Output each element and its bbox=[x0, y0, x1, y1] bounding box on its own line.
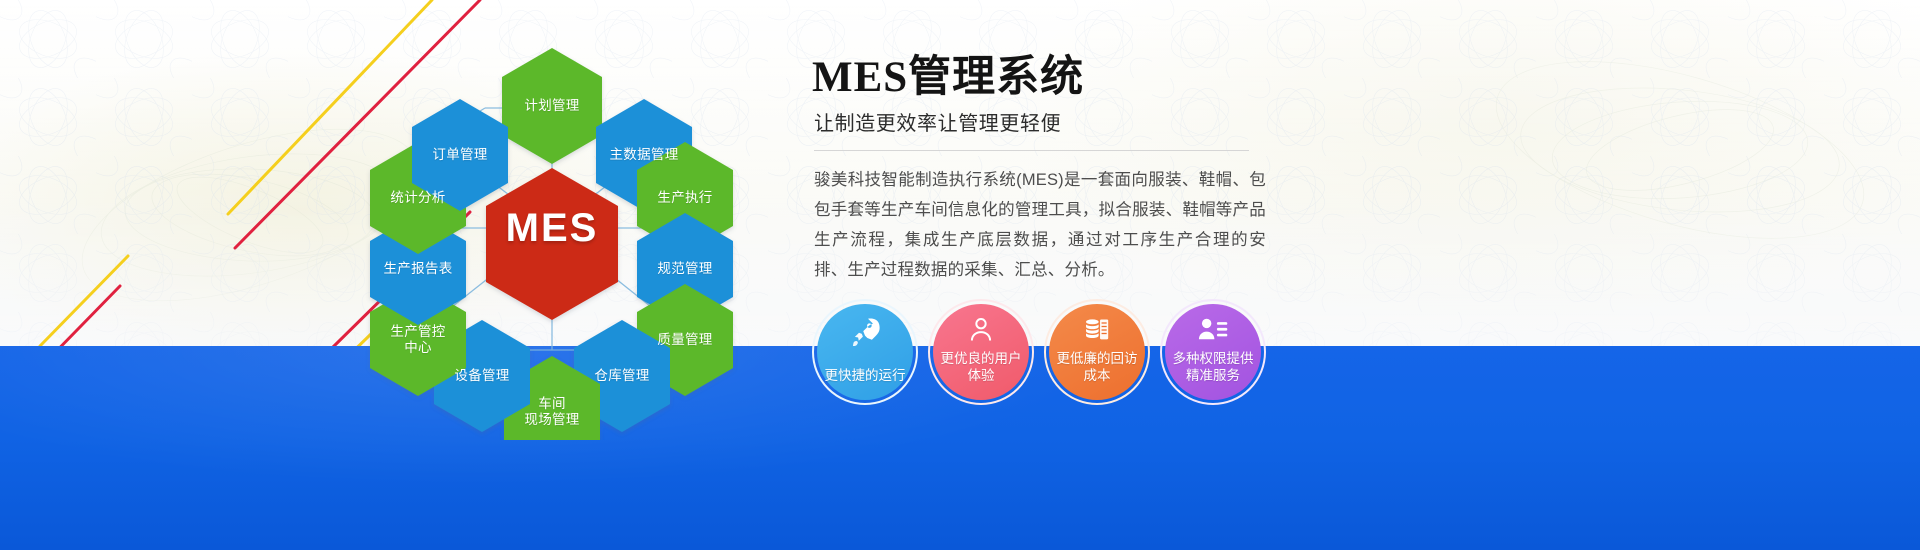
hex-nodes bbox=[370, 48, 733, 440]
feature-badges: 更快捷的运行 更优良的用户 体验 bbox=[817, 304, 1287, 404]
divider bbox=[814, 150, 1249, 151]
permission-icon bbox=[1165, 316, 1261, 344]
hex-diagram-svg bbox=[330, 20, 770, 440]
feature-badge-0[interactable]: 更快捷的运行 bbox=[817, 304, 913, 400]
badge-label: 更快捷的运行 bbox=[817, 367, 913, 400]
badge-label: 多种权限提供 精准服务 bbox=[1165, 350, 1261, 400]
mes-hex-diagram: 计划管理 主数据管理 生产执行 规范管理 质量管理 仓库管理 车间 现场管理 设… bbox=[330, 20, 770, 440]
banner-stage: 计划管理 主数据管理 生产执行 规范管理 质量管理 仓库管理 车间 现场管理 设… bbox=[0, 0, 1920, 550]
page-title: MES管理系统 bbox=[812, 52, 1892, 104]
feature-badge-1[interactable]: 更优良的用户 体验 bbox=[933, 304, 1029, 400]
page-subtitle: 让制造更效率让管理更轻便 bbox=[814, 111, 1892, 137]
feature-badge-3[interactable]: 多种权限提供 精准服务 bbox=[1165, 304, 1261, 400]
banner-text-block: MES管理系统 让制造更效率让管理更轻便 骏美科技智能制造执行系统(MES)是一… bbox=[812, 52, 1892, 482]
badge-label: 更低廉的回访 成本 bbox=[1049, 350, 1145, 400]
money-icon bbox=[1049, 316, 1145, 344]
description-paragraph: 骏美科技智能制造执行系统(MES)是一套面向服装、鞋帽、包包手套等生产车间信息化… bbox=[814, 165, 1266, 285]
user-icon bbox=[933, 316, 1029, 344]
feature-badge-2[interactable]: 更低廉的回访 成本 bbox=[1049, 304, 1145, 400]
badge-label: 更优良的用户 体验 bbox=[933, 350, 1029, 400]
rocket-icon bbox=[817, 316, 913, 346]
